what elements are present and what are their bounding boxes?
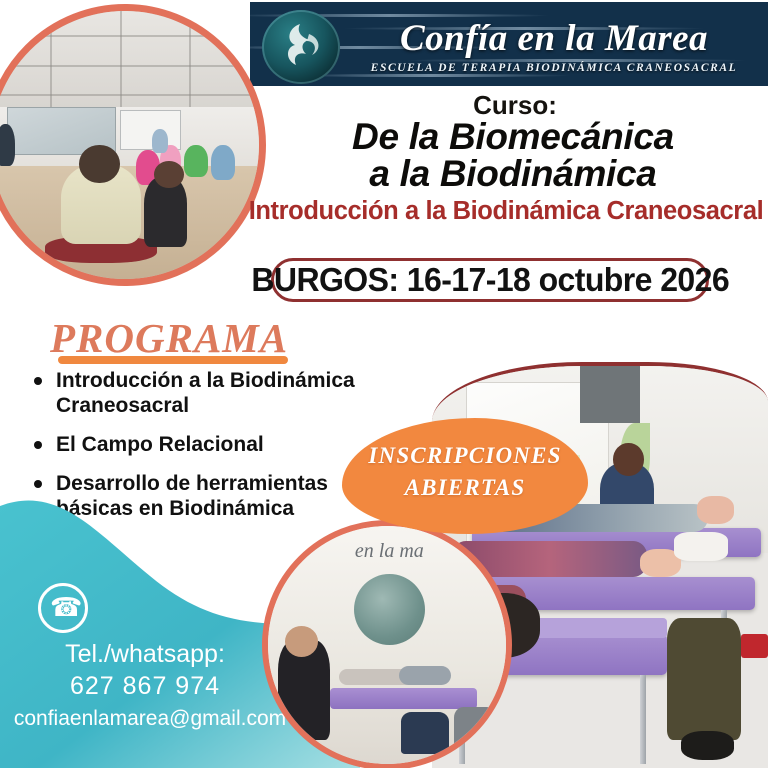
brand-name: Confía en la Marea	[352, 17, 756, 60]
enrollment-line2: ABIERTAS	[342, 475, 588, 501]
date-location-badge: BURGOS: 16-17-18 octubre 2026	[271, 258, 709, 302]
enrollment-line1: INSCRIPCIONES	[342, 443, 588, 469]
poster-canvas: Confía en la Marea ESCUELA DE TERAPIA BI…	[0, 0, 768, 768]
course-title-line1: De la Biomecánica	[270, 118, 756, 155]
list-item: Introducción a la Biodinámica Craneosacr…	[56, 368, 402, 418]
wave-spiral-logo-icon	[262, 10, 340, 84]
photo-practitioner: en la ma	[262, 520, 512, 768]
photo-workshop-classroom	[0, 4, 266, 286]
course-title: De la Biomecánica a la Biodinámica	[270, 118, 756, 192]
date-location-text: BURGOS: 16-17-18 octubre 2026	[251, 261, 729, 299]
photo-backdrop-script: en la ma	[301, 540, 477, 563]
course-subtitle: Introducción a la Biodinámica Craneosacr…	[248, 197, 764, 226]
program-heading: PROGRAMA	[50, 314, 288, 362]
telephone-number[interactable]: 627 867 974	[0, 672, 290, 701]
course-title-line2: a la Biodinámica	[270, 155, 756, 192]
brand-tagline: ESCUELA DE TERAPIA BIODINÁMICA CRANEOSAC…	[352, 62, 756, 74]
program-heading-underline	[58, 356, 288, 364]
telephone-label: Tel./whatsapp:	[0, 640, 290, 669]
email-address[interactable]: confiaenlamarea@gmail.com	[0, 707, 300, 731]
phone-glyph-icon: ☎	[50, 594, 82, 620]
